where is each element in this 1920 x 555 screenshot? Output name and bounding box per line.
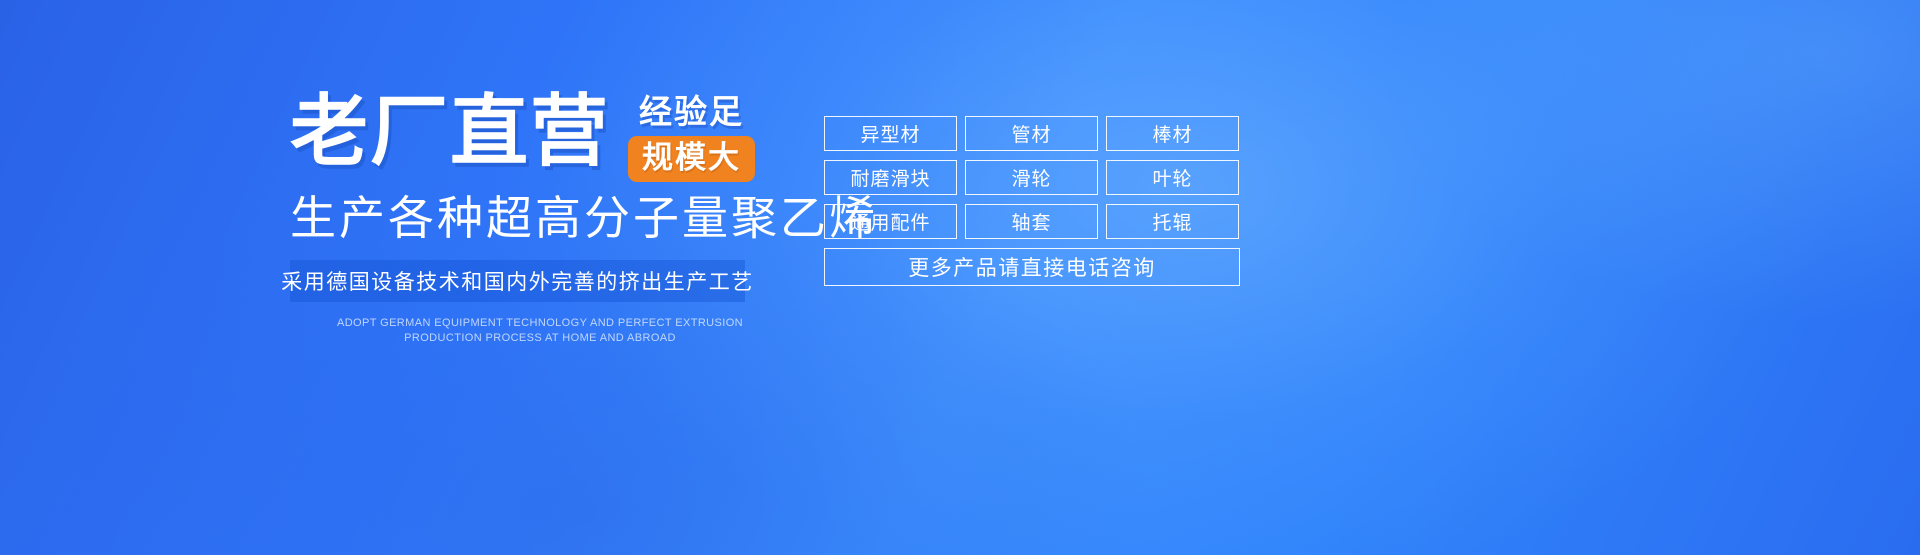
promo-banner: 老厂直营 经验足 规模大 生产各种超高分子量聚乙烯 采用德国设备技术和国内外完善… xyxy=(0,0,1920,555)
badge-scale: 规模大 xyxy=(628,136,755,182)
product-button-naimohuakuai[interactable]: 耐磨滑块 xyxy=(824,160,957,195)
product-button-hualun[interactable]: 滑轮 xyxy=(965,160,1098,195)
product-button-yelun[interactable]: 叶轮 xyxy=(1106,160,1239,195)
badge-experience: 经验足 xyxy=(639,94,744,130)
product-button-guancai[interactable]: 管材 xyxy=(965,116,1098,151)
tagline-strip-text: 采用德国设备技术和国内外完善的挤出生产工艺 xyxy=(281,266,754,296)
headline-row: 老厂直营 经验足 规模大 xyxy=(290,88,790,180)
product-button-grid: 异型材 管材 棒材 耐磨滑块 滑轮 叶轮 通用配件 轴套 托辊 xyxy=(824,116,1240,239)
product-buttons-panel: 异型材 管材 棒材 耐磨滑块 滑轮 叶轮 通用配件 轴套 托辊 更多产品请直接电… xyxy=(824,116,1240,286)
product-button-tuogun[interactable]: 托辊 xyxy=(1106,204,1239,239)
more-products-contact-button[interactable]: 更多产品请直接电话咨询 xyxy=(824,248,1240,286)
product-button-yixingcai[interactable]: 异型材 xyxy=(824,116,957,151)
product-button-zhoutao[interactable]: 轴套 xyxy=(965,204,1098,239)
headline-main-text: 老厂直营 xyxy=(290,88,610,174)
english-tagline-line1: ADOPT GERMAN EQUIPMENT TECHNOLOGY AND PE… xyxy=(290,316,790,331)
banner-content: 老厂直营 经验足 规模大 生产各种超高分子量聚乙烯 采用德国设备技术和国内外完善… xyxy=(0,0,1920,555)
headline-block: 老厂直营 经验足 规模大 生产各种超高分子量聚乙烯 采用德国设备技术和国内外完善… xyxy=(290,88,790,346)
english-tagline-block: ADOPT GERMAN EQUIPMENT TECHNOLOGY AND PE… xyxy=(290,316,790,346)
headline-badge-stack: 经验足 规模大 xyxy=(628,88,755,182)
product-button-tongyongpeijian[interactable]: 通用配件 xyxy=(824,204,957,239)
headline-subtitle: 生产各种超高分子量聚乙烯 xyxy=(290,190,790,246)
english-tagline-line2: PRODUCTION PROCESS AT HOME AND ABROAD xyxy=(290,331,790,346)
tagline-strip: 采用德国设备技术和国内外完善的挤出生产工艺 xyxy=(290,260,745,302)
product-button-bangcai[interactable]: 棒材 xyxy=(1106,116,1239,151)
